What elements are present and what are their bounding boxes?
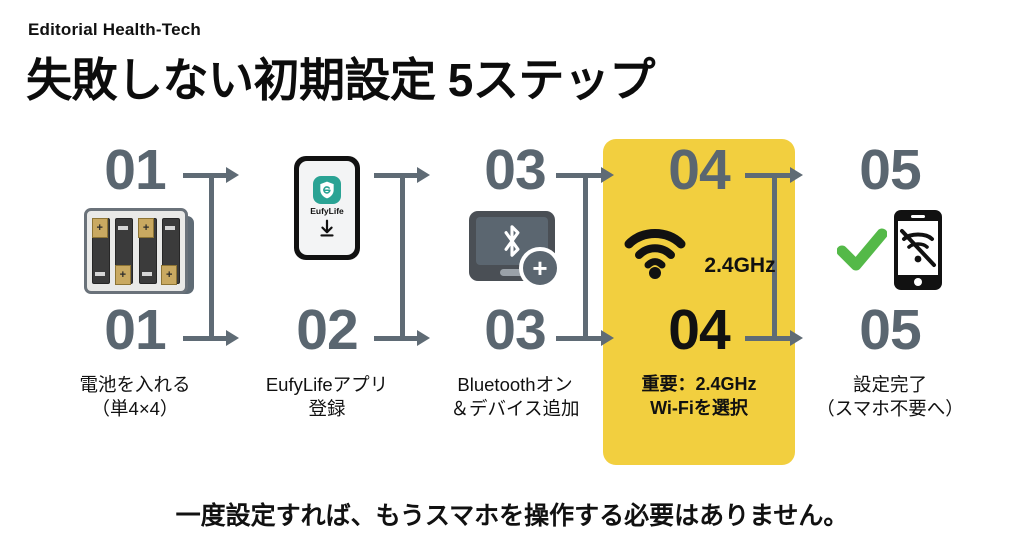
step-caption: 電池を入れる （単4×4） xyxy=(33,373,237,422)
battery-cell: + xyxy=(115,218,133,284)
step-caption-line1: 重要：2.4GHz xyxy=(597,373,801,397)
wifi-24ghz-group: 2.4GHz xyxy=(622,220,775,280)
step-caption-line1: 設定完了 xyxy=(788,373,992,397)
battery-plus-cap: + xyxy=(92,218,108,238)
step-number-top: 03 xyxy=(425,142,605,199)
step-column-01: 01 + + + xyxy=(45,130,225,456)
step-caption-line2: Wi-Fiを選択 xyxy=(597,397,801,421)
battery-plus-cap: + xyxy=(161,265,177,285)
step-caption: 重要：2.4GHz Wi-Fiを選択 xyxy=(597,373,801,421)
battery-minus-cap xyxy=(118,226,128,230)
tray-body: + + + + xyxy=(84,208,188,294)
step-number-bottom: 02 xyxy=(237,302,417,359)
battery-cell: + xyxy=(162,218,180,284)
step-number-top: 04 xyxy=(609,142,789,199)
step-caption-line1: Bluetoothオン xyxy=(413,373,617,397)
step-number-bottom: 04 xyxy=(609,302,789,359)
step-column-03: 03 + 03 Bluetoothオン ＆デバイス追加 xyxy=(425,130,605,456)
battery-minus-cap xyxy=(165,226,175,230)
step-column-04: 04 2.4GHz 04 重要：2.4GHz Wi-Fiを選択 xyxy=(609,130,789,456)
battery-plus-cap: + xyxy=(138,218,154,238)
battery-minus-cap xyxy=(95,272,105,276)
step-caption-line2: ＆デバイス追加 xyxy=(413,397,617,421)
step-caption-line1: EufyLifeアプリ xyxy=(225,373,429,397)
battery-minus-cap xyxy=(142,272,152,276)
step-number-top: 05 xyxy=(800,142,980,199)
phone-app-download-icon: EufyLife xyxy=(294,156,360,260)
wifi-icon xyxy=(622,220,700,280)
step-number-bottom: 05 xyxy=(800,302,980,359)
step-caption: 設定完了 （スマホ不要へ） xyxy=(788,373,992,422)
step-number-bottom: 01 xyxy=(45,302,225,359)
step-caption-line1: 電池を入れる xyxy=(33,373,237,397)
step-caption: Bluetoothオン ＆デバイス追加 xyxy=(413,373,617,422)
wifi-band-label: 2.4GHz xyxy=(704,254,775,278)
battery-cell: + xyxy=(139,218,157,284)
download-icon xyxy=(316,218,338,240)
step-caption: EufyLifeアプリ 登録 xyxy=(225,373,429,422)
battery-plus-cap: + xyxy=(115,265,131,285)
step-column-05: 05 05 設定完了 （スマホ不要へ） xyxy=(800,130,980,456)
step-caption-line2: （単4×4） xyxy=(33,397,237,421)
step-caption-line2: 登録 xyxy=(225,397,429,421)
steps-flow: 01 + + + xyxy=(0,130,1024,475)
step-icon: EufyLife xyxy=(237,150,417,266)
eufylife-app-icon xyxy=(313,176,341,204)
kicker-label: Editorial Health-Tech xyxy=(28,20,201,40)
step-icon: + xyxy=(425,198,605,302)
plus-badge-icon: + xyxy=(519,247,561,289)
check-icon xyxy=(837,227,887,273)
footer-caption: 一度設定すれば、もうスマホを操作する必要はありません。 xyxy=(0,496,1024,532)
app-name-label: EufyLife xyxy=(310,206,344,216)
step-number-top: 01 xyxy=(45,142,225,199)
step-column-02: EufyLife 02 EufyLifeアプリ 登録 xyxy=(237,130,417,456)
step-icon xyxy=(800,198,980,302)
phone-screen: EufyLife xyxy=(299,161,355,255)
step-icon: 2.4GHz xyxy=(609,198,789,302)
battery-cell: + xyxy=(92,218,110,284)
step-icon: + + + + xyxy=(45,198,225,302)
battery-tray-icon: + + + + xyxy=(76,202,194,298)
step-caption-line2: （スマホ不要へ） xyxy=(788,397,992,421)
setup-complete-group xyxy=(837,209,943,291)
bluetooth-device-add-icon: + xyxy=(469,211,561,289)
page-title: 失敗しない初期設定 5ステップ xyxy=(26,44,655,110)
step-number-bottom: 03 xyxy=(425,302,605,359)
phone-no-wifi-icon xyxy=(893,209,943,291)
